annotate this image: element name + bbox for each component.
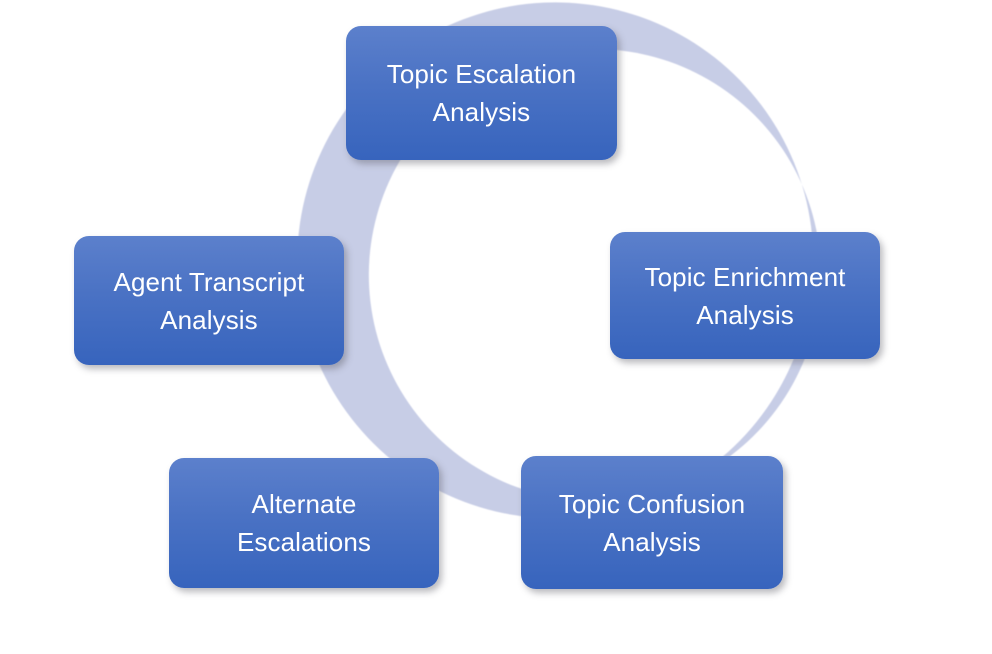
cycle-node-label: Topic Escalation Analysis <box>379 55 584 131</box>
cycle-node-agent-transcript-analysis[interactable]: Agent Transcript Analysis <box>74 236 344 365</box>
cycle-node-label: Agent Transcript Analysis <box>106 263 313 339</box>
diagram-canvas: Topic Escalation Analysis Topic Enrichme… <box>0 0 992 654</box>
cycle-node-topic-escalation-analysis[interactable]: Topic Escalation Analysis <box>346 26 617 160</box>
cycle-node-topic-confusion-analysis[interactable]: Topic Confusion Analysis <box>521 456 783 589</box>
cycle-node-label: Alternate Escalations <box>229 485 379 561</box>
cycle-node-label: Topic Confusion Analysis <box>551 485 754 561</box>
cycle-node-label: Topic Enrichment Analysis <box>636 258 853 334</box>
cycle-node-alternate-escalations[interactable]: Alternate Escalations <box>169 458 439 588</box>
cycle-node-topic-enrichment-analysis[interactable]: Topic Enrichment Analysis <box>610 232 880 359</box>
